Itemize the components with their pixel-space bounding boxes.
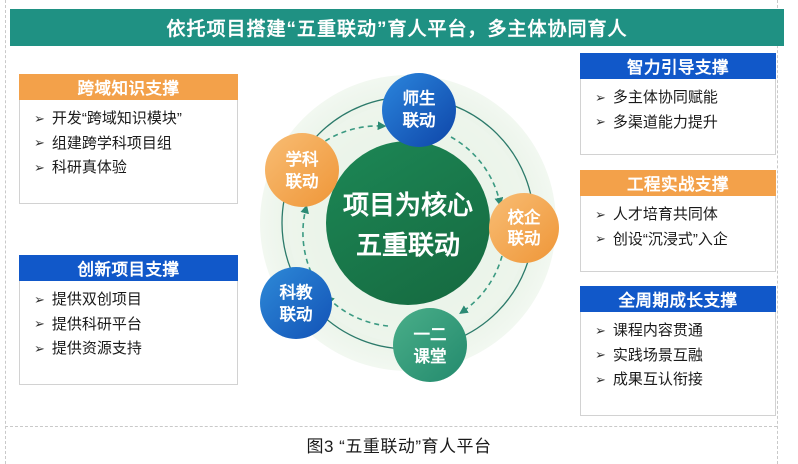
arrow-bullet-icon: ➢ <box>34 342 45 355</box>
list-item[interactable]: ➢ 多主体协同赋能 <box>581 86 775 111</box>
list-item-label: 科研真体验 <box>52 160 127 177</box>
list-item-label: 提供双创项目 <box>52 292 142 309</box>
node-label-line2: 联动 <box>286 172 319 191</box>
list-item-label: 组建跨学科项目组 <box>52 136 172 153</box>
banner-title: 依托项目搭建“五重联动”育人平台，多主体协同育人 <box>166 14 627 41</box>
panel-chuangxin-xiangmu-zhicheng: 创新项目支撑 ➢ 提供双创项目 ➢ 提供科研平台 ➢ 提供资源支持 <box>19 255 238 385</box>
arrow-bullet-icon: ➢ <box>595 115 606 128</box>
node-xueke-liandong[interactable]: 学科 联动 <box>265 133 339 207</box>
list-item[interactable]: ➢ 提供资源支持 <box>20 337 237 362</box>
node-label-line1: 一二 <box>414 326 447 344</box>
node-label-line2: 联动 <box>508 229 541 248</box>
list-item-label: 人才培育共同体 <box>613 207 718 224</box>
slide-page: 依托项目搭建“五重联动”育人平台，多主体协同育人 跨域知识支撑 ➢ 开发“跨域知… <box>0 0 798 464</box>
panel-zhili-yindao-zhicheng: 智力引导支撑 ➢ 多主体协同赋能 ➢ 多渠道能力提升 <box>580 53 776 155</box>
node-label-line1: 校企 <box>508 207 542 227</box>
arrow-bullet-icon: ➢ <box>595 208 606 221</box>
node-label-line2: 课堂 <box>414 346 447 366</box>
arrow-bullet-icon: ➢ <box>34 161 45 174</box>
panel-body: ➢ 提供双创项目 ➢ 提供科研平台 ➢ 提供资源支持 <box>19 281 238 385</box>
list-item-label: 多渠道能力提升 <box>613 115 718 132</box>
panel-header: 全周期成长支撑 <box>580 286 776 312</box>
panel-header: 跨域知识支撑 <box>19 74 238 100</box>
node-label-line1: 师生 <box>403 88 436 108</box>
page-guide-left <box>5 0 6 464</box>
arrow-bullet-icon: ➢ <box>34 293 45 306</box>
panel-header-label: 全周期成长支撑 <box>619 287 738 311</box>
core-circle <box>326 141 490 305</box>
panel-gongcheng-shizhan-zhicheng: 工程实战支撑 ➢ 人才培育共同体 ➢ 创设“沉浸式”入企 <box>580 170 776 272</box>
node-xiaoqi-liandong[interactable]: 校企 联动 <box>489 193 559 263</box>
list-item-label: 创设“沉浸式”入企 <box>613 232 728 249</box>
node-yier-ketang[interactable]: 一二 课堂 <box>393 308 467 382</box>
panel-quanzhouqi-chengzhang-zhicheng: 全周期成长支撑 ➢ 课程内容贯通 ➢ 实践场景互融 ➢ 成果互认衔接 <box>580 286 776 416</box>
arrow-bullet-icon: ➢ <box>595 373 606 386</box>
panel-header-label: 工程实战支撑 <box>627 171 729 195</box>
panel-header: 创新项目支撑 <box>19 255 238 281</box>
five-linkage-diagram: 项目为核心 五重联动 师生 联动 校企 联动 一二 课堂 <box>248 60 568 390</box>
arrow-bullet-icon: ➢ <box>34 136 45 149</box>
node-label-line2: 联动 <box>403 111 436 130</box>
list-item[interactable]: ➢ 创设“沉浸式”入企 <box>581 228 775 253</box>
list-item[interactable]: ➢ 多渠道能力提升 <box>581 111 775 136</box>
panel-body: ➢ 多主体协同赋能 ➢ 多渠道能力提升 <box>580 79 776 155</box>
node-shisheng-liandong[interactable]: 师生 联动 <box>382 73 456 147</box>
list-item[interactable]: ➢ 科研真体验 <box>20 156 237 181</box>
core-label-line2: 五重联动 <box>356 230 460 260</box>
list-item-label: 成果互认衔接 <box>613 372 703 389</box>
page-guide-bottom <box>5 426 777 427</box>
list-item[interactable]: ➢ 开发“跨域知识模块” <box>20 107 237 132</box>
list-item-label: 课程内容贯通 <box>613 323 703 340</box>
panel-header-label: 跨域知识支撑 <box>78 75 180 99</box>
list-item[interactable]: ➢ 提供科研平台 <box>20 313 237 338</box>
arrow-bullet-icon: ➢ <box>595 91 606 104</box>
node-label-line1: 学科 <box>286 149 320 169</box>
panel-header: 工程实战支撑 <box>580 170 776 196</box>
arrow-bullet-icon: ➢ <box>34 317 45 330</box>
panel-body: ➢ 人才培育共同体 ➢ 创设“沉浸式”入企 <box>580 196 776 272</box>
list-item[interactable]: ➢ 人才培育共同体 <box>581 203 775 228</box>
node-label-line1: 科教 <box>280 282 314 302</box>
panel-kuayu-zhishi-zhicheng: 跨域知识支撑 ➢ 开发“跨域知识模块” ➢ 组建跨学科项目组 ➢ 科研真体验 <box>19 74 238 204</box>
title-banner: 依托项目搭建“五重联动”育人平台，多主体协同育人 <box>10 9 784 46</box>
panel-header-label: 智力引导支撑 <box>627 54 729 78</box>
list-item[interactable]: ➢ 课程内容贯通 <box>581 319 775 344</box>
core-label-line1: 项目为核心 <box>343 190 473 220</box>
list-item[interactable]: ➢ 成果互认衔接 <box>581 368 775 393</box>
list-item-label: 提供资源支持 <box>52 341 142 358</box>
node-label-line2: 联动 <box>280 305 313 324</box>
list-item[interactable]: ➢ 提供双创项目 <box>20 288 237 313</box>
list-item-label: 提供科研平台 <box>52 317 142 334</box>
panel-body: ➢ 开发“跨域知识模块” ➢ 组建跨学科项目组 ➢ 科研真体验 <box>19 100 238 204</box>
arrow-bullet-icon: ➢ <box>595 324 606 337</box>
page-guide-right <box>777 0 778 464</box>
arrow-bullet-icon: ➢ <box>595 232 606 245</box>
node-kejiao-liandong[interactable]: 科教 联动 <box>260 267 332 339</box>
arrow-bullet-icon: ➢ <box>34 112 45 125</box>
list-item-label: 实践场景互融 <box>613 348 703 365</box>
list-item[interactable]: ➢ 实践场景互融 <box>581 344 775 369</box>
panel-header-label: 创新项目支撑 <box>78 256 180 280</box>
arrow-bullet-icon: ➢ <box>595 348 606 361</box>
list-item-label: 开发“跨域知识模块” <box>52 111 182 128</box>
panel-body: ➢ 课程内容贯通 ➢ 实践场景互融 ➢ 成果互认衔接 <box>580 312 776 416</box>
list-item[interactable]: ➢ 组建跨学科项目组 <box>20 132 237 157</box>
list-item-label: 多主体协同赋能 <box>613 90 718 107</box>
figure-caption: 图3 “五重联动”育人平台 <box>0 432 798 457</box>
panel-header: 智力引导支撑 <box>580 53 776 79</box>
